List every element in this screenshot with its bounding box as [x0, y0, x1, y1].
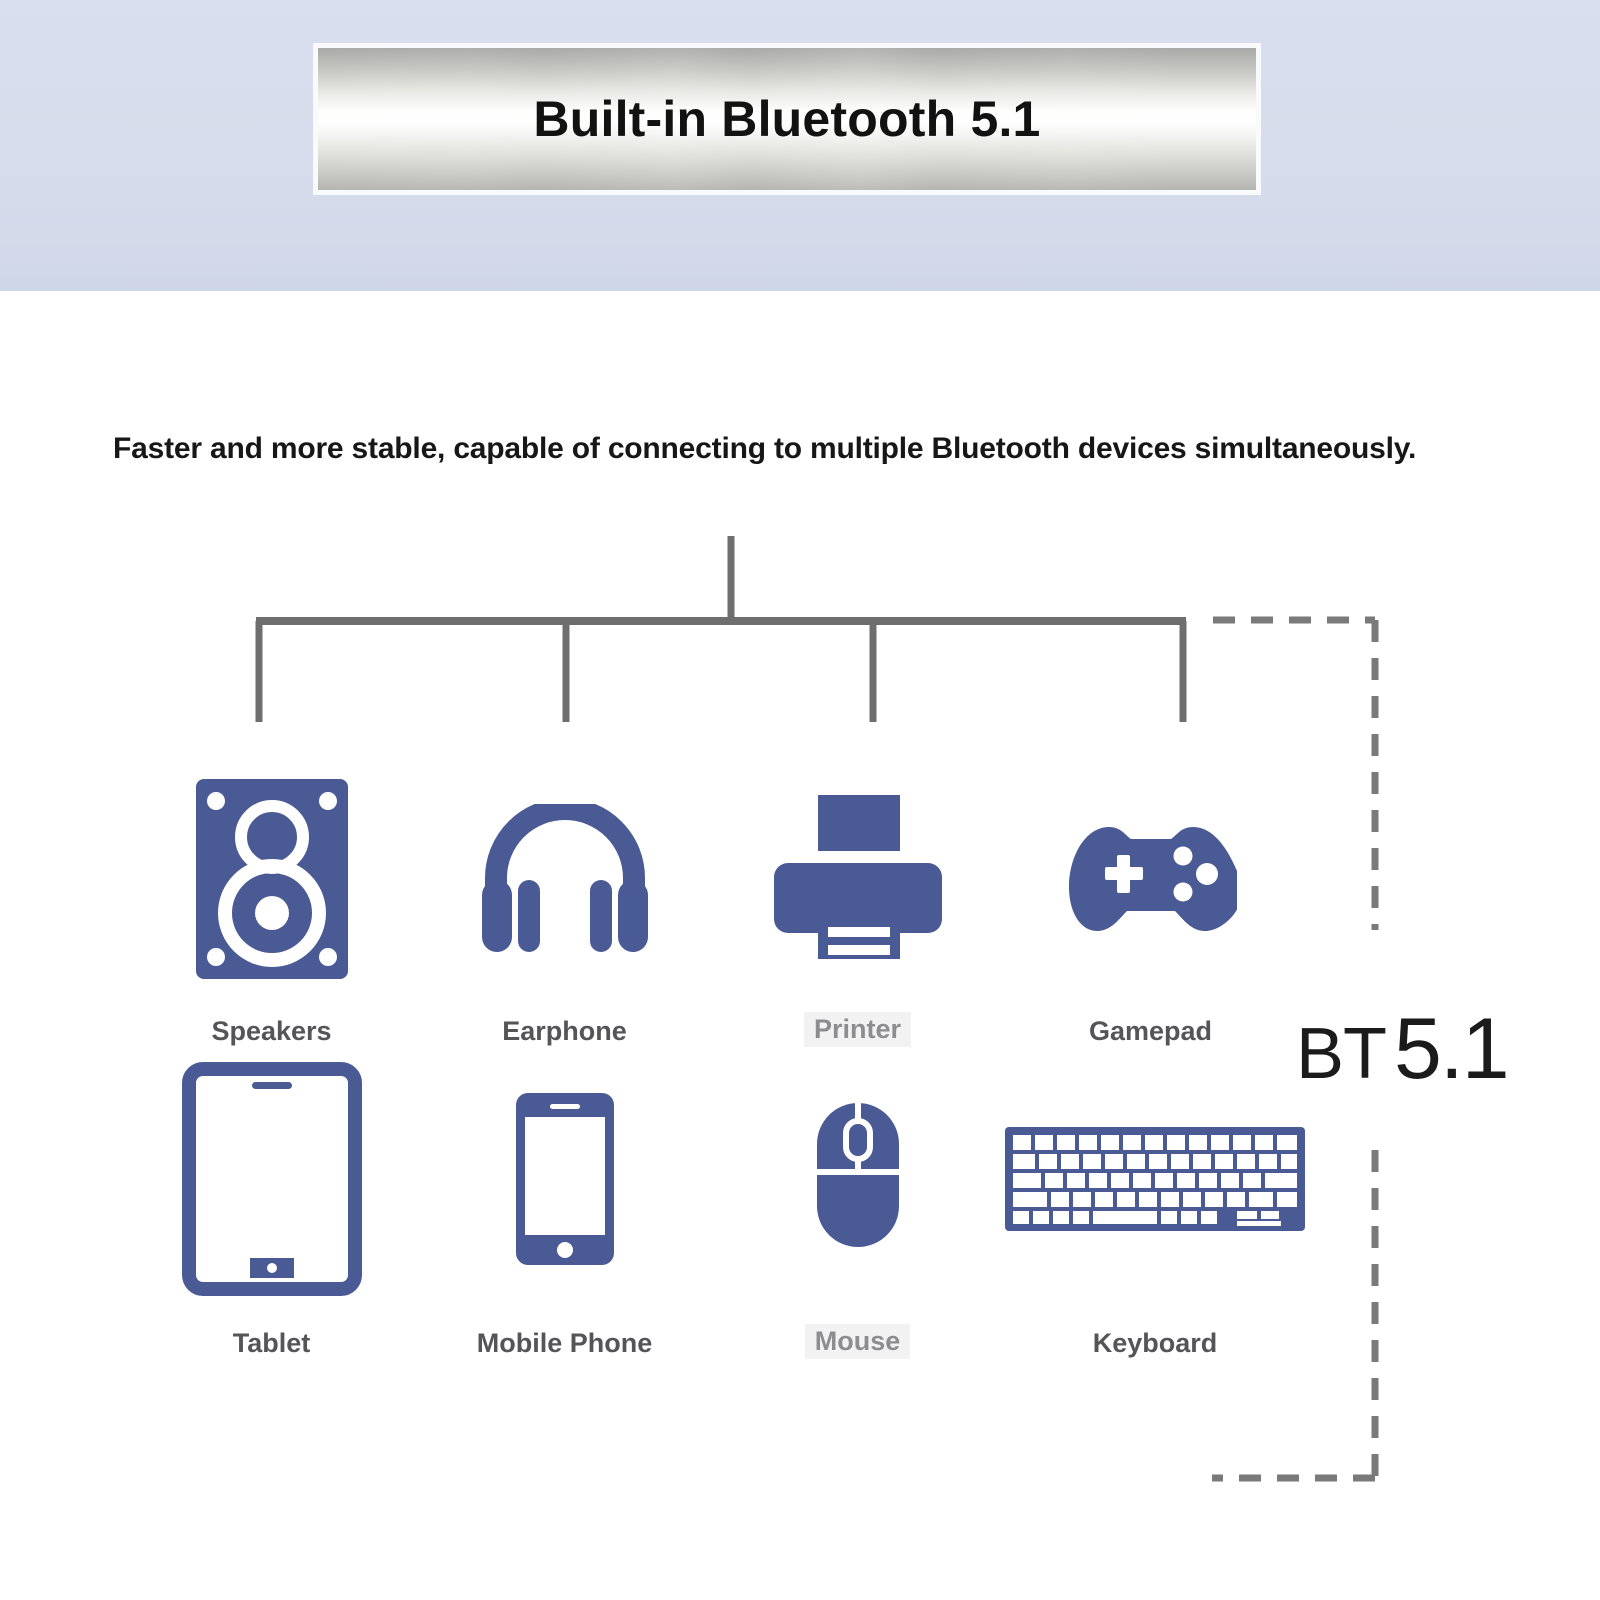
device-grid: Speakers Earphone	[0, 760, 1330, 1359]
device-cell-earphone[interactable]: Earphone	[418, 764, 711, 1047]
printer-icon	[774, 760, 942, 990]
device-cell-speakers[interactable]: Speakers	[125, 764, 418, 1047]
device-cell-keyboard[interactable]: Keyboard	[1004, 1051, 1306, 1359]
gamepad-icon	[1065, 764, 1237, 994]
device-label: Mouse	[805, 1324, 911, 1359]
device-label: Gamepad	[1089, 1016, 1212, 1047]
subtitle-text: Faster and more stable, capable of conne…	[113, 432, 1513, 466]
bt-prefix: BT	[1296, 1013, 1386, 1095]
device-cell-tablet[interactable]: Tablet	[125, 1051, 418, 1359]
device-cell-gamepad[interactable]: Gamepad	[1004, 764, 1297, 1047]
keyboard-icon	[1004, 1051, 1306, 1306]
device-label: Mobile Phone	[477, 1328, 653, 1359]
earphone-icon	[474, 764, 656, 994]
device-cell-mouse[interactable]: Mouse	[711, 1047, 1004, 1359]
device-cell-printer[interactable]: Printer	[711, 760, 1004, 1047]
bt-version-badge: BT 5.1	[1296, 1000, 1508, 1099]
title-plate: Built-in Bluetooth 5.1	[318, 48, 1256, 190]
mouse-icon	[815, 1047, 901, 1302]
device-label: Speakers	[211, 1016, 331, 1047]
device-cell-phone[interactable]: Mobile Phone	[418, 1051, 711, 1359]
device-label: Keyboard	[1093, 1328, 1218, 1359]
bt-version: 5.1	[1394, 1000, 1508, 1099]
phone-icon	[514, 1051, 616, 1306]
header-band: Built-in Bluetooth 5.1	[0, 0, 1600, 291]
device-row-2: Tablet Mobile Phone	[0, 1047, 1330, 1359]
device-row-1: Speakers Earphone	[0, 760, 1330, 1047]
device-label: Earphone	[502, 1016, 627, 1047]
device-label: Printer	[804, 1012, 911, 1047]
speaker-icon	[192, 764, 352, 994]
tablet-icon	[182, 1051, 362, 1306]
device-label: Tablet	[233, 1328, 311, 1359]
page-title: Built-in Bluetooth 5.1	[318, 90, 1256, 148]
